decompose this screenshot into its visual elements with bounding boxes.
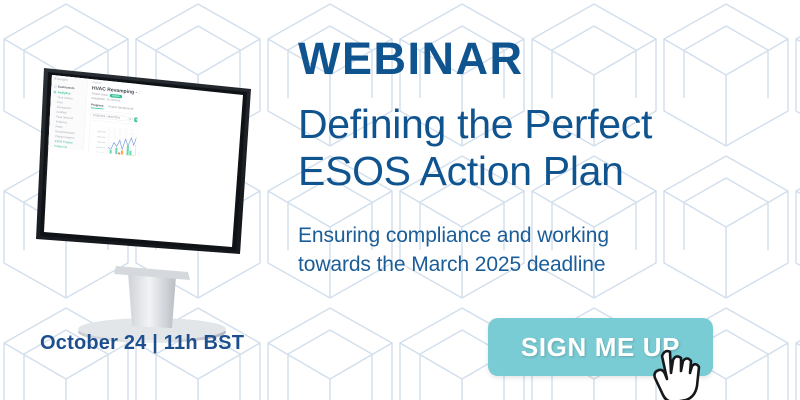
cta-area: SIGN ME UP	[488, 318, 713, 376]
event-date: October 24 | 11h BST	[40, 332, 244, 355]
subheadline-line-1: Ensuring compliance and working	[298, 222, 748, 251]
sign-me-up-label: SIGN ME UP	[521, 332, 680, 363]
subheadline: Ensuring compliance and working towards …	[298, 222, 748, 280]
subheadline-line-2: towards the March 2025 deadline	[298, 251, 748, 280]
eyebrow-webinar: WEBINAR	[298, 36, 523, 81]
monitor-mockup: Enerspin DashboardsAnalyticsTime metrics…	[0, 40, 300, 360]
headline-line-2: ESOS Action Plan	[298, 148, 768, 195]
headline-line-1: Defining the Perfect	[298, 101, 768, 148]
page-title: Defining the Perfect ESOS Action Plan	[298, 101, 768, 194]
sign-me-up-button[interactable]: SIGN ME UP	[488, 318, 713, 376]
